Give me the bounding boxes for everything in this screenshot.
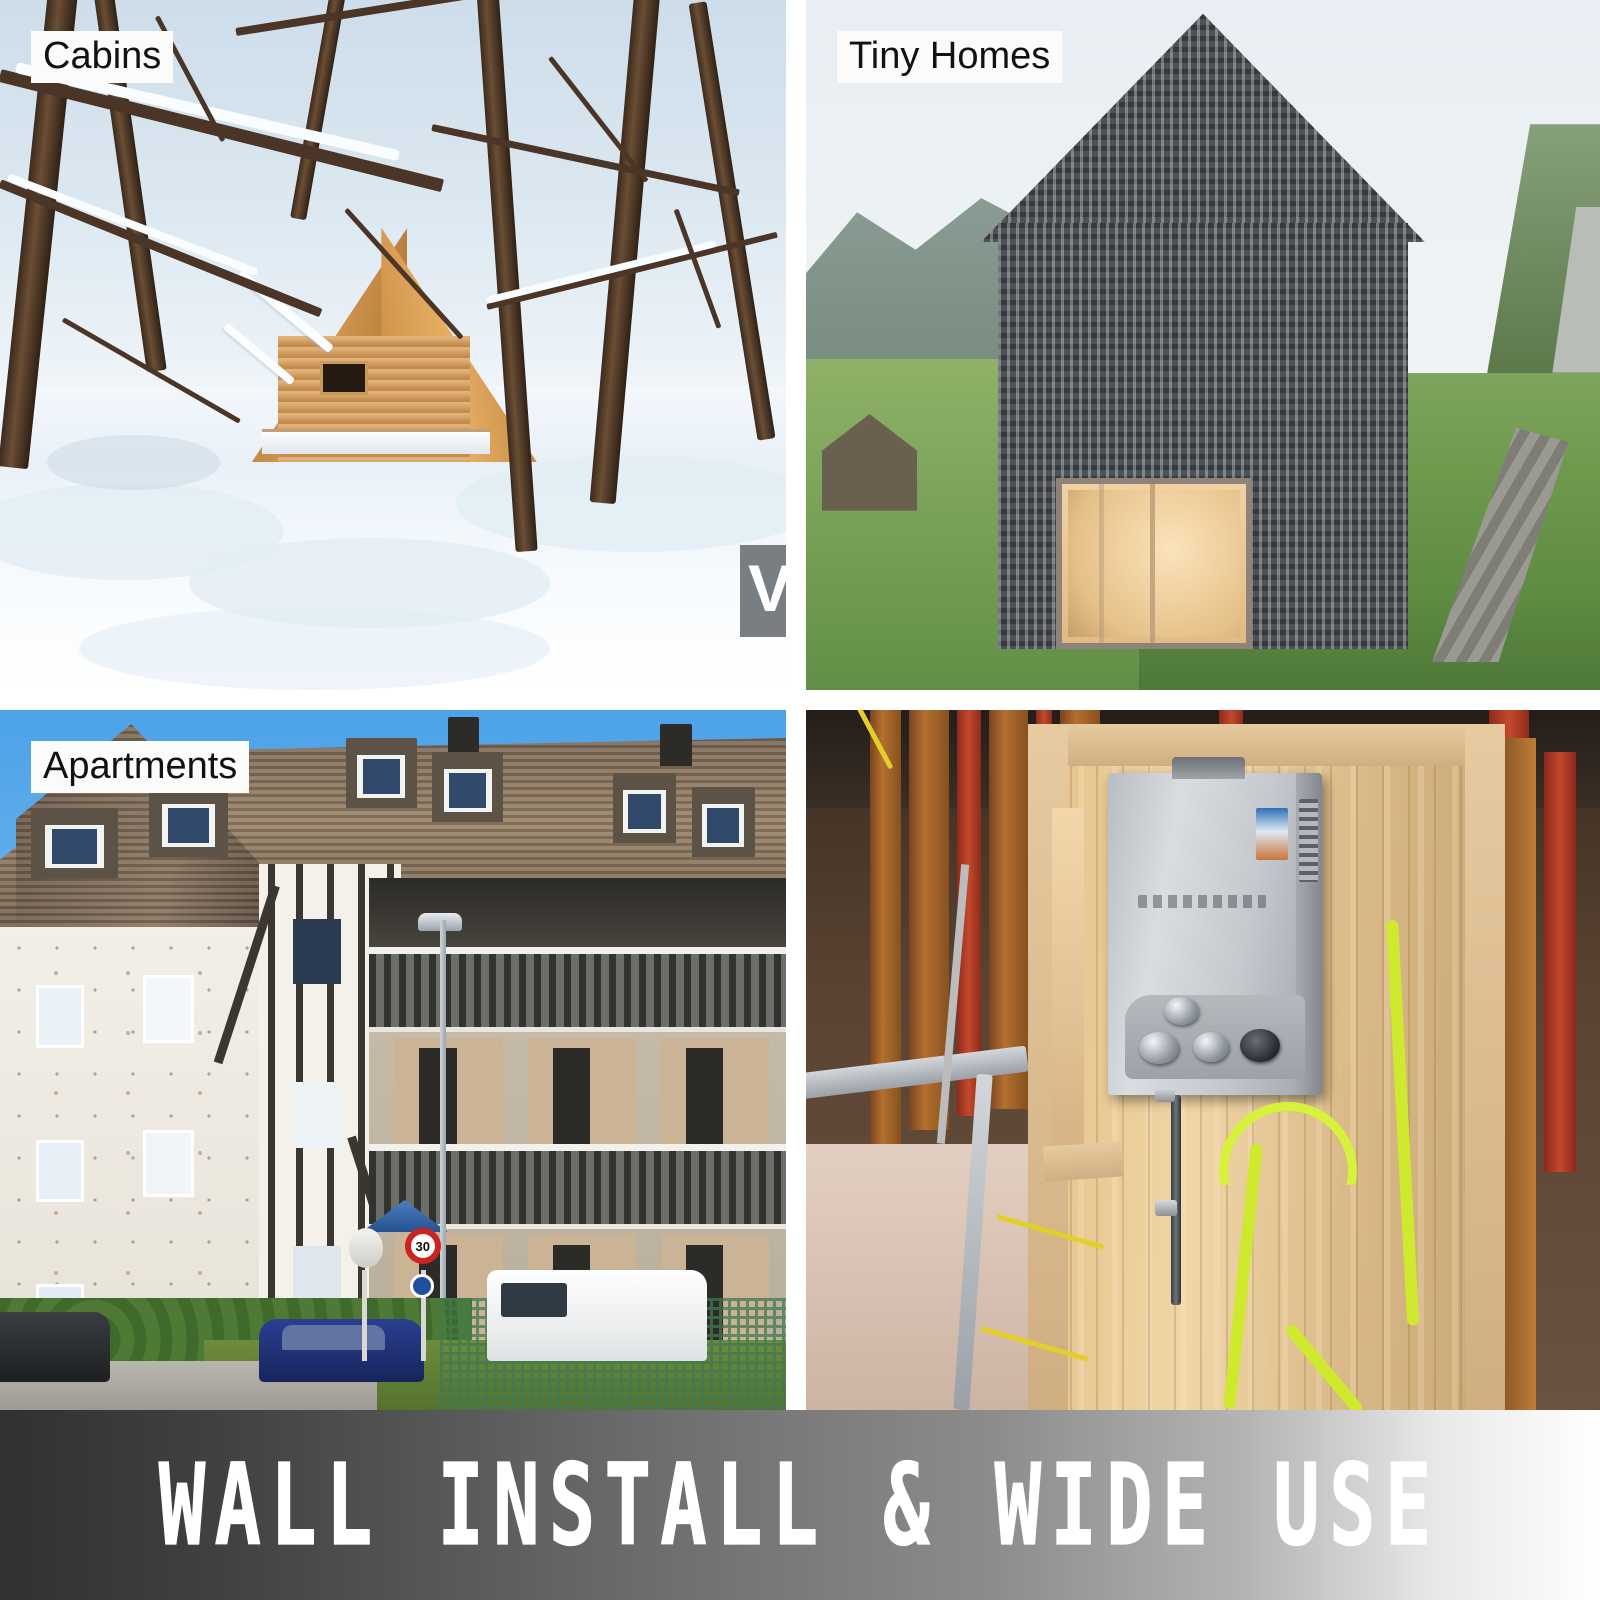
brand-watermark: V xyxy=(740,545,786,637)
product-sticker xyxy=(1256,808,1288,860)
dormer-window xyxy=(432,752,503,822)
frame-cross-brace xyxy=(1043,1141,1125,1181)
cabin-window xyxy=(320,361,368,395)
facade-window xyxy=(36,1140,84,1203)
photo-cell-cabins[interactable]: Cabins V xyxy=(0,0,786,690)
sign-post xyxy=(362,1270,367,1361)
banner-headline: WALL INSTALL & WIDE USE xyxy=(159,1439,1441,1570)
frame-top-rail xyxy=(1028,724,1504,766)
dormer-window xyxy=(692,787,755,857)
flue-outlet xyxy=(1172,757,1245,780)
speed-limit-sign: 30 xyxy=(405,1228,441,1264)
balcony-window xyxy=(553,1048,590,1144)
watermark-letter: V xyxy=(748,555,786,621)
door-mullion xyxy=(1099,484,1104,642)
balcony-window xyxy=(419,1048,456,1144)
bottom-banner: WALL INSTALL & WIDE USE xyxy=(0,1410,1600,1600)
control-knob[interactable] xyxy=(1164,997,1198,1025)
frame-brace xyxy=(1052,808,1084,1158)
round-sign-back xyxy=(349,1228,383,1268)
label-apartments: Apartments xyxy=(31,741,249,793)
facade-window xyxy=(36,985,84,1048)
control-knob[interactable] xyxy=(1193,1032,1229,1062)
balcony-railing xyxy=(369,947,786,1032)
chimney xyxy=(448,717,479,752)
tankless-water-heater xyxy=(1108,773,1322,1095)
ignition-dial[interactable] xyxy=(1240,1029,1280,1062)
brand-text-embossed xyxy=(1138,895,1267,908)
blue-car xyxy=(259,1319,424,1382)
tiny-home-building xyxy=(981,14,1426,649)
dormer-window xyxy=(346,738,417,808)
control-panel xyxy=(1125,995,1305,1079)
frame-right-post xyxy=(1465,724,1505,1410)
photo-cell-apartments[interactable]: 30 Apartments xyxy=(0,710,786,1410)
glass-door-opening xyxy=(1056,478,1252,648)
cabin-winter-photo: Cabins V xyxy=(0,0,786,690)
balcony-railing xyxy=(369,1144,786,1229)
snow-drift xyxy=(79,607,551,690)
apartment-building-photo: 30 Apartments xyxy=(0,710,786,1410)
water-heater-install-photo xyxy=(806,710,1600,1410)
dormer-window xyxy=(613,773,676,843)
white-van xyxy=(487,1270,707,1361)
pipe-fitting xyxy=(1155,1088,1175,1102)
photo-cell-water-heater-install[interactable] xyxy=(806,710,1600,1410)
dormer-window xyxy=(149,787,228,857)
photo-grid: Cabins V xyxy=(0,0,1600,1410)
facade-window xyxy=(143,975,194,1043)
photo-cell-tiny-homes[interactable]: Tiny Homes xyxy=(806,0,1600,690)
snow-shadow xyxy=(47,435,220,490)
door-mullion xyxy=(1150,484,1155,642)
chimney xyxy=(660,724,691,766)
red-board xyxy=(1544,752,1576,1172)
tiny-home-photo: Tiny Homes xyxy=(806,0,1600,690)
timber-window xyxy=(293,919,341,985)
banner-headline-wrap: WALL INSTALL & WIDE USE xyxy=(0,1456,1600,1554)
dark-car xyxy=(0,1312,110,1382)
facade-body xyxy=(998,223,1407,648)
balcony-window xyxy=(686,1048,723,1144)
dormer-window xyxy=(31,808,117,878)
vent-slots xyxy=(1299,799,1318,883)
marketing-collage: Cabins V xyxy=(0,0,1600,1600)
blue-round-sign xyxy=(410,1274,434,1298)
fence-slat xyxy=(1505,738,1537,1410)
timber-window xyxy=(293,1082,341,1148)
label-tiny-homes: Tiny Homes xyxy=(837,31,1062,83)
control-knob[interactable] xyxy=(1139,1032,1179,1064)
cabin-deck xyxy=(262,429,490,453)
pipe-fitting xyxy=(1155,1200,1177,1216)
label-cabins: Cabins xyxy=(31,31,173,83)
facade-window xyxy=(143,1130,194,1198)
